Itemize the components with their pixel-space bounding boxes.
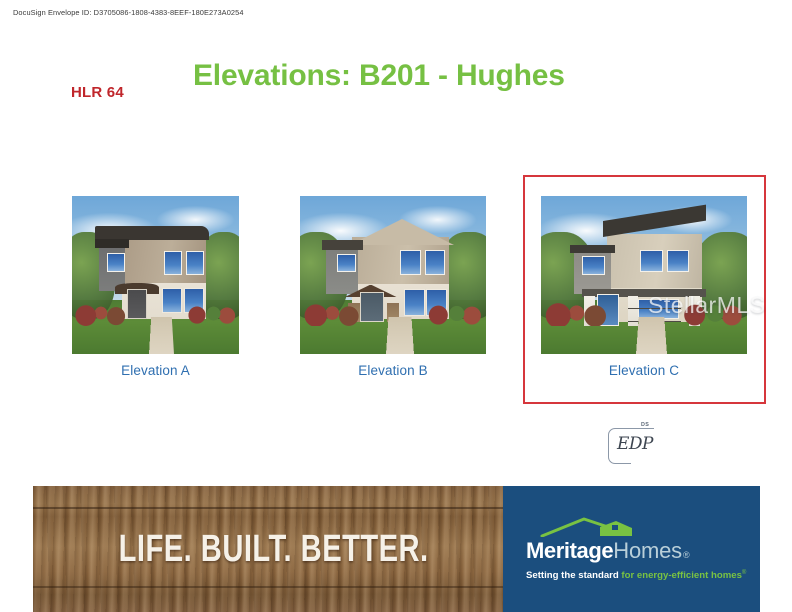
window-upper-right	[667, 250, 690, 272]
docusign-initials-stamp[interactable]: DS EDP	[608, 422, 662, 464]
docusign-envelope-id: DocuSign Envelope ID: D3705086-1808-4383…	[13, 8, 244, 17]
window-upper-left	[337, 254, 356, 271]
stamp-bracket-top-icon	[628, 428, 654, 429]
elevation-c-label: Elevation C	[541, 363, 747, 378]
docusign-ds-tag: DS	[641, 422, 649, 428]
window-upper-left	[107, 253, 125, 272]
shrubs-left	[75, 300, 128, 325]
house-roof-secondary	[95, 239, 128, 248]
elevation-c-image[interactable]	[541, 196, 747, 354]
elevation-a-label: Elevation A	[72, 363, 239, 378]
tagline-green-part: for energy-efficient homes	[621, 570, 741, 581]
walkway	[636, 317, 667, 354]
footer-wood-panel: LIFE. BUILT. BETTER.	[33, 486, 503, 612]
footer-slogan: LIFE. BUILT. BETTER.	[47, 527, 489, 571]
window-lower-left	[404, 289, 424, 316]
footer-banner: LIFE. BUILT. BETTER. Meritage Homes ® Se…	[33, 486, 760, 612]
elevation-card-a[interactable]: Elevation A	[72, 196, 239, 378]
shrubs-left	[304, 300, 364, 325]
window-upper-center	[640, 250, 663, 272]
signer-initials: EDP	[617, 434, 653, 454]
footer-tagline: Setting the standard for energy-efficien…	[526, 570, 760, 581]
brand-name-secondary: Homes	[613, 538, 682, 564]
brand-name-primary: Meritage	[526, 538, 613, 564]
footer-brand-panel: Meritage Homes ® Setting the standard fo…	[503, 486, 760, 612]
plan-code-label: HLR 64	[71, 84, 124, 101]
shrubs-right	[186, 300, 236, 325]
shrubs-right	[681, 300, 743, 325]
window-upper-right	[186, 251, 204, 275]
house-roof-secondary	[570, 245, 615, 253]
elevation-card-b[interactable]: Elevation B	[300, 196, 486, 378]
elevation-a-image[interactable]	[72, 196, 239, 354]
walkway	[149, 317, 174, 354]
slide-page: DocuSign Envelope ID: D3705086-1808-4383…	[0, 0, 792, 612]
tagline-bold-part: Setting the standard	[526, 570, 619, 581]
elevation-card-c[interactable]: Elevation C	[541, 196, 747, 378]
tagline-registered-mark: ®	[742, 570, 746, 576]
window-upper-right	[425, 250, 445, 275]
elevation-b-image[interactable]	[300, 196, 486, 354]
page-title: Elevations: B201 - Hughes	[193, 59, 565, 93]
meritage-wordmark: Meritage Homes ®	[526, 538, 760, 564]
elevation-b-label: Elevation B	[300, 363, 486, 378]
house-roof	[322, 240, 363, 249]
window-upper-center	[164, 251, 182, 275]
window-lower-left	[162, 288, 182, 313]
shrubs-right	[426, 300, 482, 325]
front-door	[127, 289, 147, 319]
window-upper-left	[582, 256, 605, 275]
shrubs-left	[545, 300, 611, 325]
meritage-roof-icon	[540, 517, 680, 537]
house-gable	[350, 219, 454, 245]
brand-registered-mark: ®	[683, 550, 689, 560]
window-upper-center	[400, 250, 420, 275]
walkway	[386, 317, 414, 354]
